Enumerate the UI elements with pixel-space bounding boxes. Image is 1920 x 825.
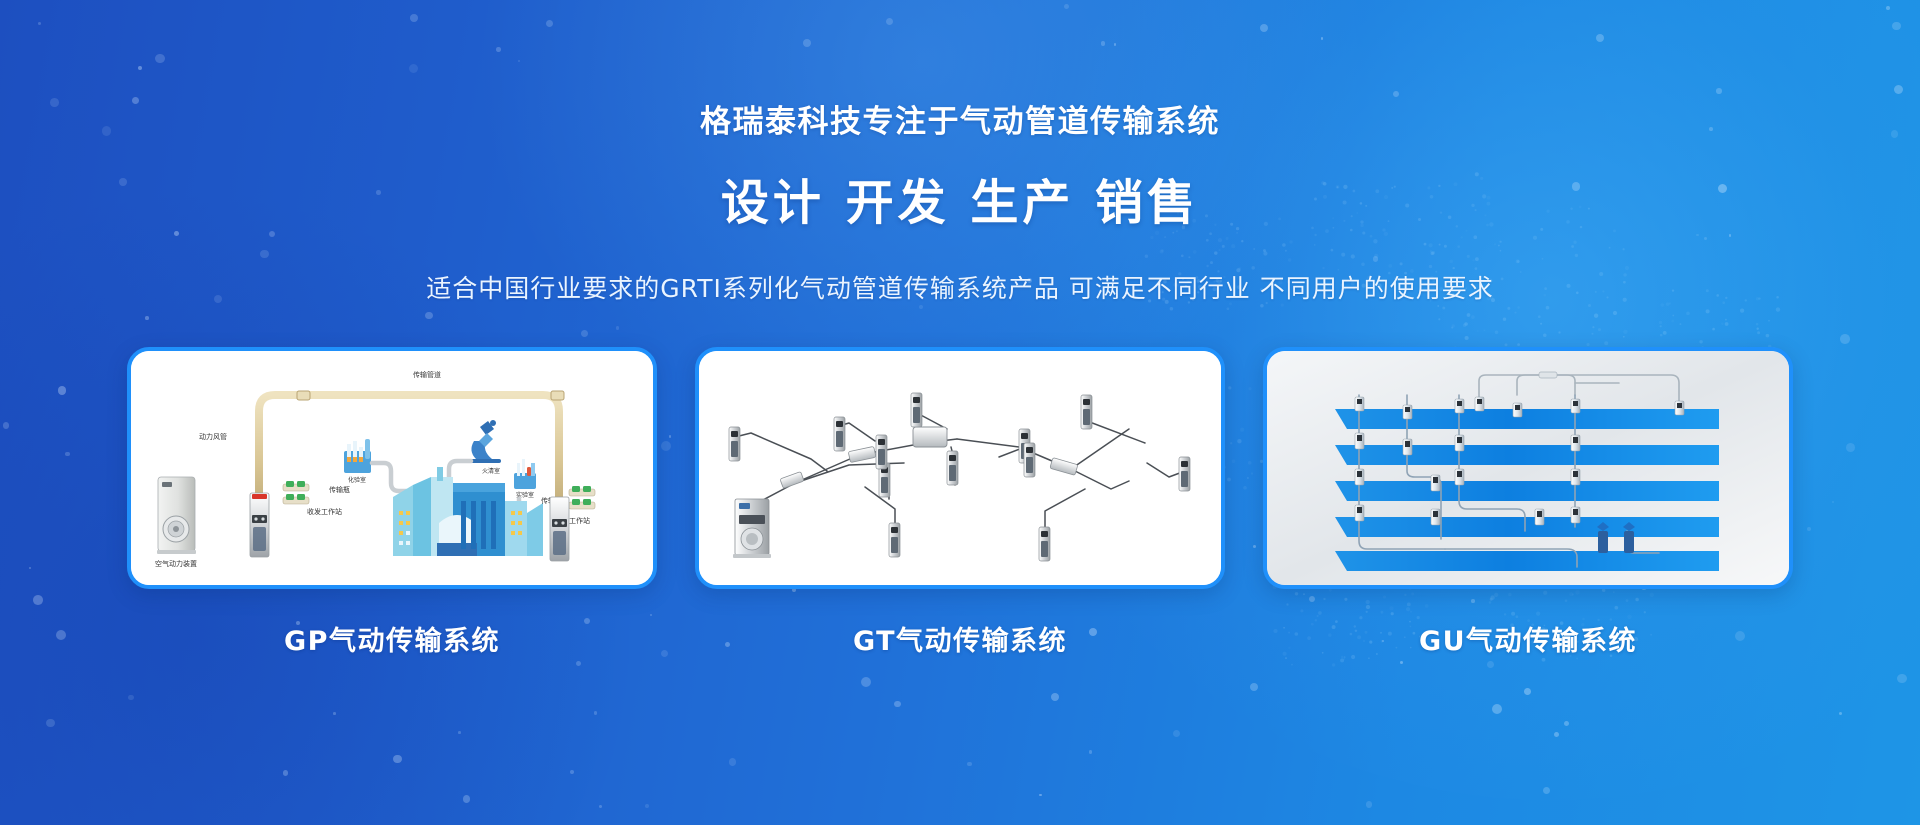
page-title: 格瑞泰科技专注于气动管道传输系统 (700, 96, 1220, 141)
hero-banner: 格瑞泰科技专注于气动管道传输系统 设计 开发 生产 销售 适合中国行业要求的GR… (0, 0, 1920, 825)
product-card-list: 传输管道 动力风管 空气动力装置 (127, 347, 1793, 658)
card-caption-gu: GU气动传输系统 (1419, 619, 1637, 658)
station-left (250, 493, 269, 557)
label-chem-lab: 化验室 (348, 476, 366, 484)
product-card-gp[interactable]: 传输管道 动力风管 空气动力装置 (127, 347, 657, 658)
product-card-gt[interactable]: GT气动传输系统 (695, 347, 1225, 658)
banner-content: 格瑞泰科技专注于气动管道传输系统 设计 开发 生产 销售 适合中国行业要求的GR… (0, 0, 1920, 825)
blower-unit-gt (733, 499, 771, 558)
product-image-gp: 传输管道 动力风管 空气动力装置 (127, 347, 657, 589)
station-right (550, 497, 569, 561)
label-air-power-unit: 空气动力装置 (155, 559, 197, 568)
card-caption-gp: GP气动传输系统 (284, 619, 500, 658)
product-image-gu (1263, 347, 1793, 589)
diagram-pneumatic-loop: 传输管道 动力风管 空气动力装置 (131, 351, 653, 585)
diagram-branch-network (699, 351, 1221, 585)
product-image-gt (695, 347, 1225, 589)
product-card-gu[interactable]: GU气动传输系统 (1263, 347, 1793, 658)
banner-tagline: 适合中国行业要求的GRTI系列化气动管道传输系统产品 可满足不同行业 不同用户的… (426, 269, 1493, 305)
label-transport-pipe: 传输管道 (413, 370, 441, 379)
diagram-multi-floor (1267, 351, 1789, 585)
label-microscope-room: 火清室 (482, 467, 500, 475)
icon-lab (514, 459, 536, 489)
card-caption-gt: GT气动传输系统 (853, 619, 1067, 658)
label-power-duct: 动力风管 (199, 432, 227, 441)
label-carrier-left: 传输瓶 (329, 485, 350, 494)
label-station-left: 收发工作站 (307, 507, 342, 516)
blower-unit (157, 477, 196, 554)
banner-subheading: 设计 开发 生产 销售 (721, 163, 1199, 233)
